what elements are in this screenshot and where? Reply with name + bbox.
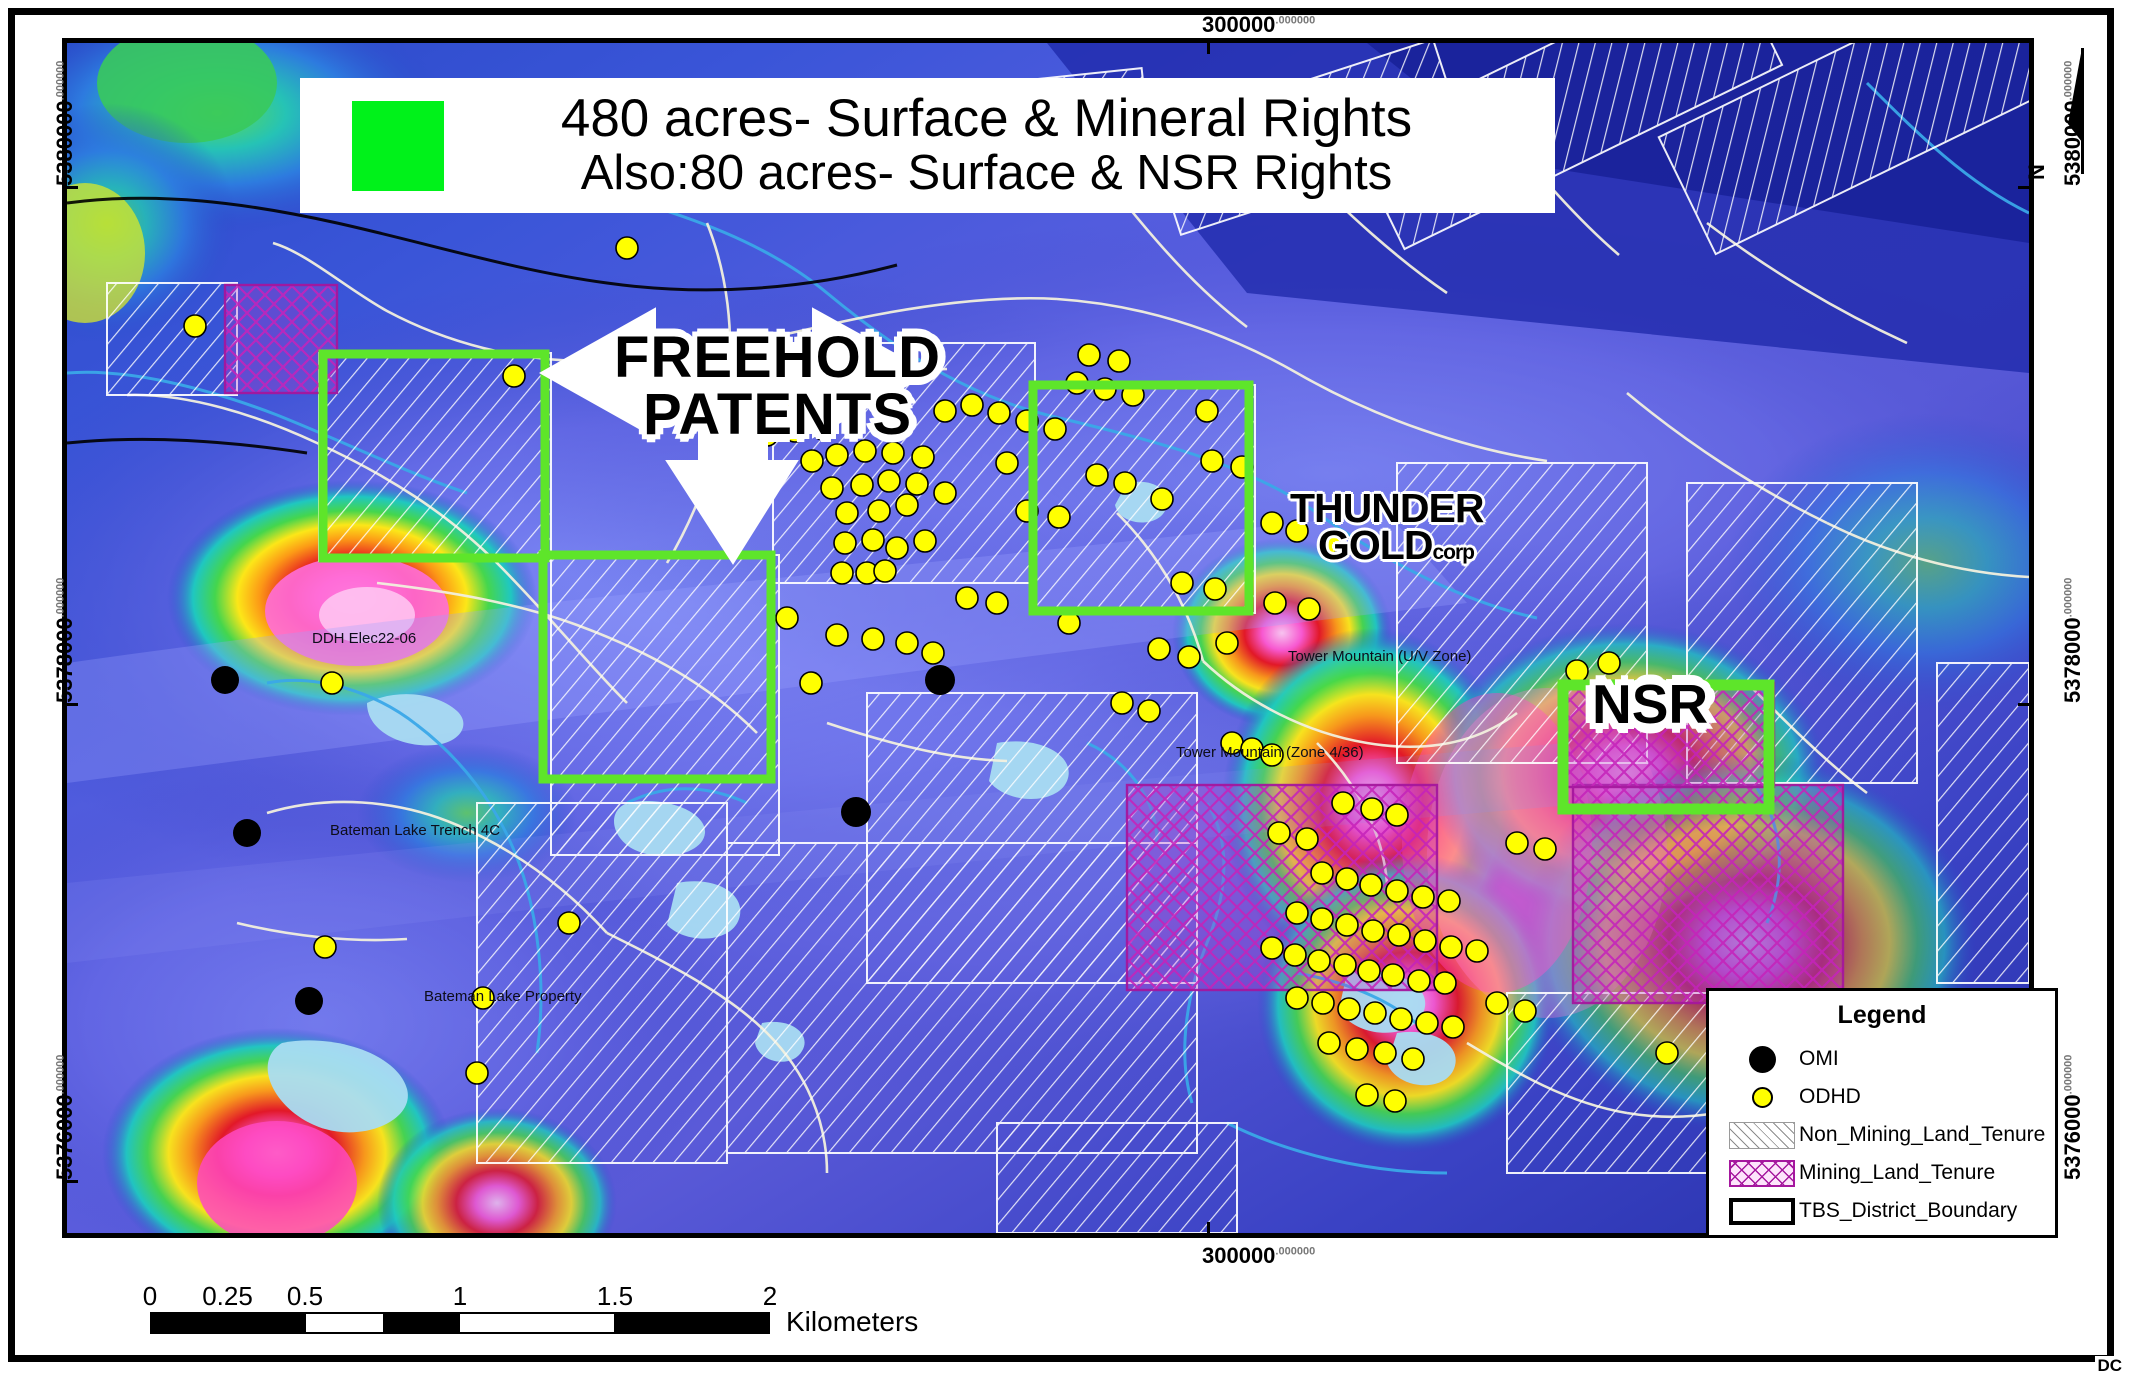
title-color-swatch [352, 101, 444, 191]
north-arrow-label: N [2024, 164, 2050, 180]
grid-tick [62, 186, 78, 189]
legend-item: TBS_District_Boundary [1709, 1192, 2055, 1230]
map-figure: 480 acres- Surface & Mineral Rights Also… [0, 0, 2132, 1380]
grid-tick [1207, 1222, 1210, 1238]
legend-rows: OMIODHDNon_Mining_Land_TenureMining_Land… [1709, 1040, 2055, 1230]
logo-corp-word: corp [1432, 541, 1474, 564]
legend-box: Legend OMIODHDNon_Mining_Land_TenureMini… [1706, 988, 2058, 1238]
grid-label-bottom: 300000.000000 [1202, 1243, 1315, 1269]
grid-label-left: 5380000.000000 [52, 61, 78, 186]
odhd-dot-icon [1725, 1087, 1799, 1108]
legend-item-label: TBS_District_Boundary [1799, 1199, 2017, 1223]
map-credit: DC [2095, 1356, 2124, 1376]
scale-tick-label: 1 [453, 1281, 467, 1312]
mining-crosshatch-icon [1725, 1160, 1799, 1187]
legend-item-label: Mining_Land_Tenure [1799, 1161, 1995, 1185]
site-label: Bateman Lake Property [424, 988, 582, 1005]
legend-title: Legend [1709, 1001, 2055, 1030]
title-line-1: 480 acres- Surface & Mineral Rights [444, 90, 1529, 147]
grid-tick [1207, 38, 1210, 54]
title-line-2: Also:80 acres- Surface & NSR Rights [444, 147, 1529, 201]
scale-tick-label: 2 [763, 1281, 777, 1312]
omi-dot-icon [1725, 1046, 1799, 1073]
scale-tick-label: 0 [143, 1281, 157, 1312]
grid-label-top: 300000.000000 [1202, 12, 1315, 38]
legend-item-label: Non_Mining_Land_Tenure [1799, 1123, 2045, 1147]
grid-label-left: 5376000.000000 [52, 1055, 78, 1180]
title-callout-box: 480 acres- Surface & Mineral Rights Also… [300, 78, 1555, 213]
district-outline-icon [1725, 1198, 1799, 1225]
logo-line-gold: GOLDcorp [1290, 527, 1483, 564]
nsr-label: NSR [1592, 672, 1708, 736]
site-label: DDH Elec22-06 [312, 630, 416, 647]
scale-tick-label: 1.5 [597, 1281, 633, 1312]
logo-gold-word: GOLD [1318, 522, 1432, 568]
scale-bar-unit: Kilometers [786, 1306, 918, 1338]
legend-item-label: ODHD [1799, 1085, 1861, 1109]
grid-tick [62, 1180, 78, 1183]
site-label: Tower Mountain (U/V Zone) [1288, 648, 1471, 665]
legend-item: Non_Mining_Land_Tenure [1709, 1116, 2055, 1154]
scale-bar-graphic [150, 1312, 770, 1334]
grid-tick [2018, 186, 2034, 189]
scale-bar: 00.250.511.52 Kilometers [150, 1278, 770, 1334]
grid-label-right: 5378000.000000 [2060, 578, 2086, 703]
site-label: Bateman Lake Trench 4C [330, 822, 500, 839]
non-mining-hatch-icon [1725, 1122, 1799, 1149]
grid-tick [2018, 703, 2034, 706]
north-arrow: N [2052, 46, 2098, 176]
scale-tick-label: 0.25 [202, 1281, 253, 1312]
legend-item: ODHD [1709, 1078, 2055, 1116]
thunder-gold-logo: THUNDER GOLDcorp [1290, 490, 1483, 564]
site-label: Tower Mountain (Zone 4/36) [1176, 744, 1364, 761]
legend-item: Mining_Land_Tenure [1709, 1154, 2055, 1192]
grid-tick [62, 703, 78, 706]
grid-label-left: 5378000.000000 [52, 578, 78, 703]
title-text-block: 480 acres- Surface & Mineral Rights Also… [444, 90, 1555, 201]
scale-tick-label: 0.5 [287, 1281, 323, 1312]
legend-item: OMI [1709, 1040, 2055, 1078]
grid-label-right: 5376000.000000 [2060, 1055, 2086, 1180]
legend-item-label: OMI [1799, 1047, 1839, 1071]
north-arrow-glyph [2052, 46, 2098, 176]
scale-bar-labels: 00.250.511.52 [150, 1278, 770, 1312]
